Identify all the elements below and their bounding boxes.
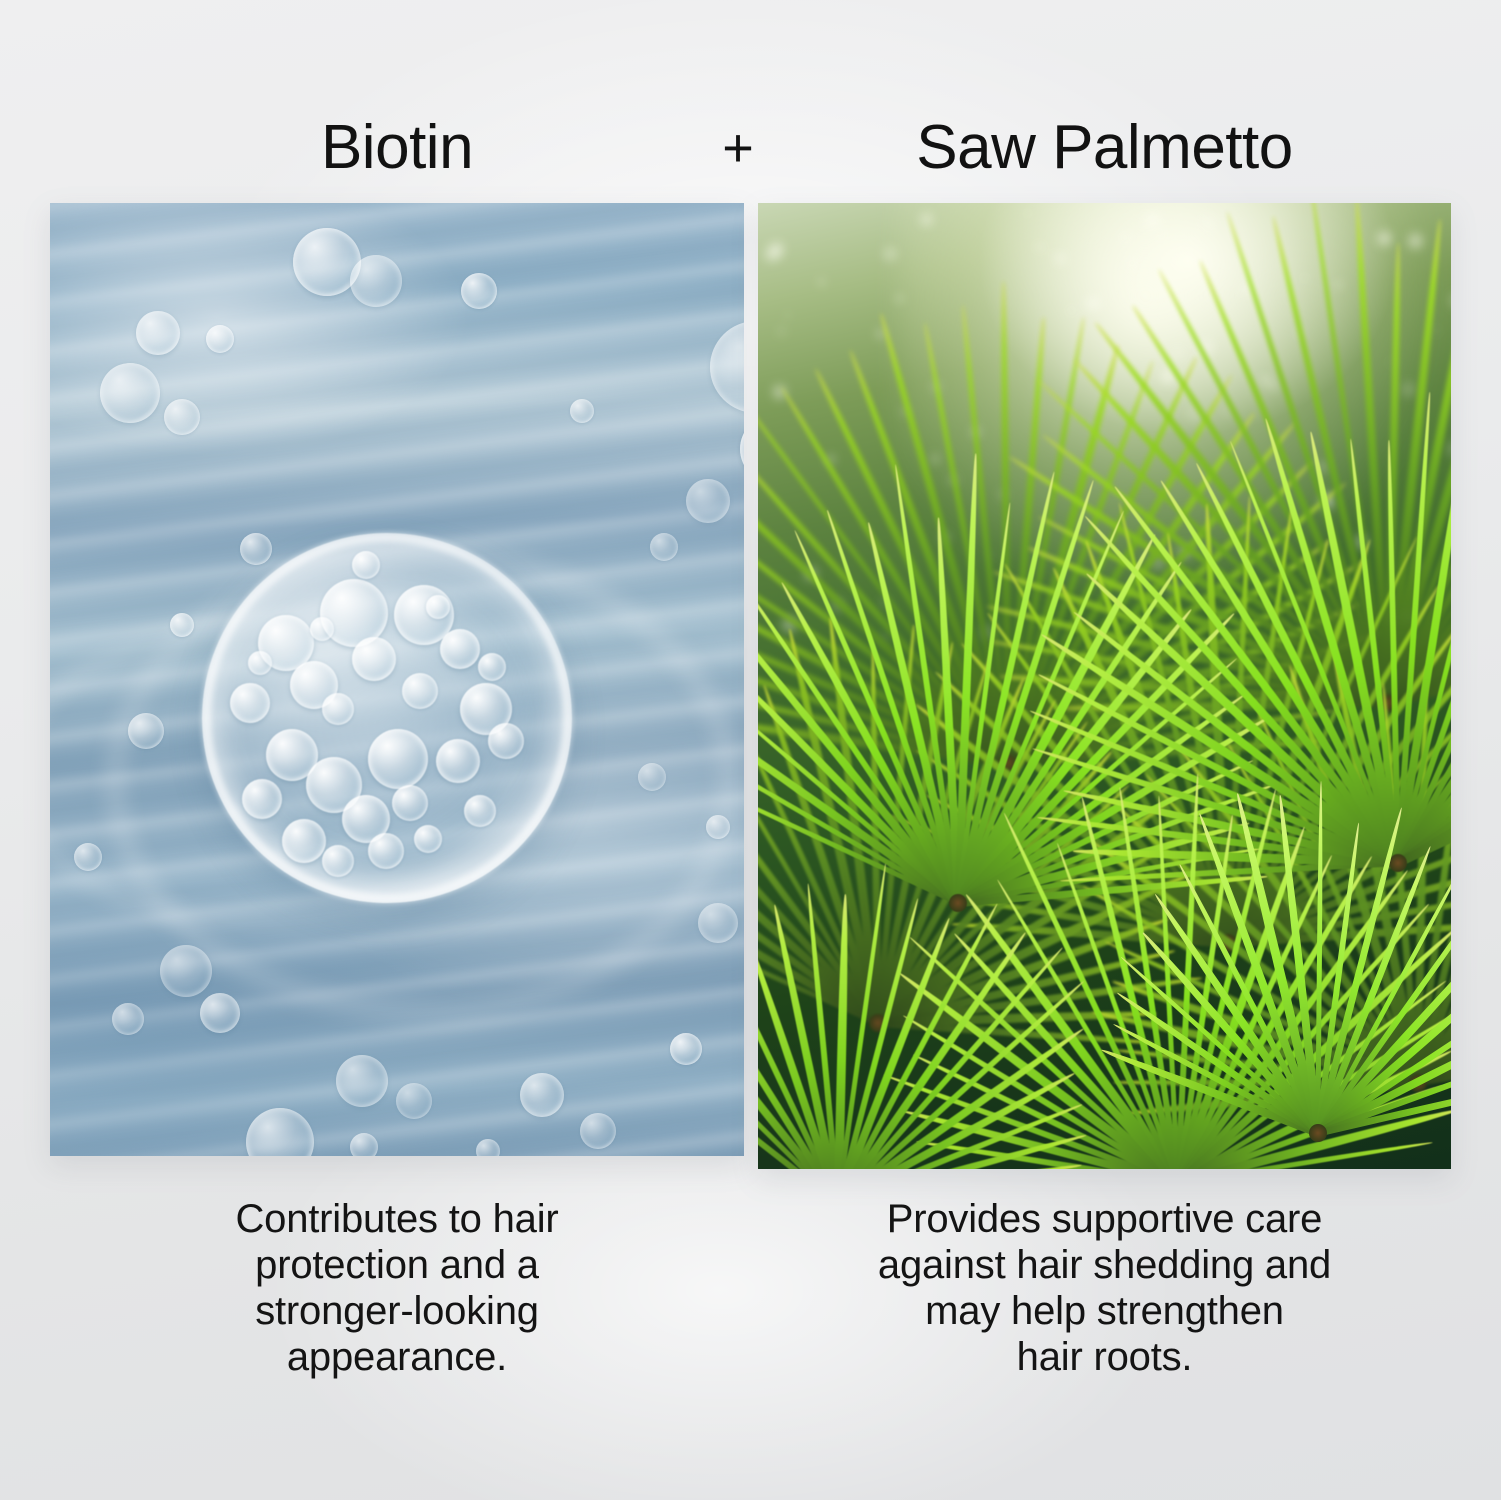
water-bubble	[100, 363, 160, 423]
bokeh-dot	[1157, 232, 1164, 239]
water-bubble	[461, 273, 497, 309]
water-bubble	[670, 1033, 702, 1065]
caption-biotin: Contributes to hair protection and a str…	[50, 1196, 744, 1380]
bokeh-dot	[1086, 297, 1100, 311]
bokeh-dot	[1055, 253, 1066, 264]
droplet-inner-bubble	[310, 617, 334, 641]
water-bubble	[686, 479, 730, 523]
droplet-inner-bubble	[368, 729, 428, 789]
droplet-inner-bubble	[352, 551, 380, 579]
bokeh-dot	[785, 313, 790, 318]
water-bubble	[336, 1055, 388, 1107]
droplet-inner-bubble	[436, 739, 480, 783]
droplet-inner-bubble	[248, 651, 272, 675]
droplet-inner-bubble	[414, 825, 442, 853]
bokeh-dot	[1069, 308, 1074, 313]
bokeh-dot	[1171, 347, 1185, 361]
ingredient-comparison-card: Biotin + Saw Palmetto Contributes to hai…	[0, 0, 1501, 1500]
bokeh-dot	[1224, 410, 1229, 415]
water-bubble	[136, 311, 180, 355]
water-bubble	[580, 1113, 616, 1149]
bokeh-dot	[1145, 213, 1160, 228]
droplet-inner-bubble	[478, 653, 506, 681]
bokeh-dot	[778, 328, 785, 335]
water-bubble	[164, 399, 200, 435]
water-bubble	[128, 713, 164, 749]
image-panel-biotin	[50, 203, 744, 1156]
water-bubble	[74, 843, 102, 871]
droplet-inner-bubble	[440, 629, 480, 669]
header: Biotin + Saw Palmetto	[0, 106, 1501, 190]
bokeh-dot	[1408, 233, 1423, 248]
bokeh-dot	[1434, 329, 1438, 333]
bokeh-dot	[1335, 281, 1342, 288]
page-title-biotin: Biotin	[50, 106, 744, 190]
bokeh-dot	[1200, 215, 1215, 230]
water-bubble	[396, 1083, 432, 1119]
water-bubble	[240, 533, 272, 565]
droplet-inner-bubble	[392, 785, 428, 821]
water-bubble	[160, 945, 212, 997]
caption-saw-palmetto: Provides supportive care against hair sh…	[758, 1196, 1451, 1380]
droplet-inner-bubble	[230, 683, 270, 723]
water-bubble	[206, 325, 234, 353]
droplet-inner-bubble	[282, 819, 326, 863]
water-bubble	[706, 815, 730, 839]
water-bubble	[638, 763, 666, 791]
bokeh-dot	[764, 248, 778, 262]
bokeh-dot	[1036, 244, 1042, 250]
bokeh-dot	[1286, 212, 1290, 216]
bokeh-dot	[1128, 259, 1136, 267]
bokeh-dot	[883, 247, 897, 261]
droplet-inner-bubble	[322, 693, 354, 725]
water-bubble	[200, 993, 240, 1033]
bokeh-dot	[876, 330, 885, 339]
bokeh-dot	[1303, 276, 1307, 280]
droplet-inner-bubble	[488, 723, 524, 759]
water-bubble	[650, 533, 678, 561]
bokeh-dot	[818, 279, 824, 285]
bokeh-dot	[896, 295, 903, 302]
frond-stem-node	[1389, 854, 1407, 872]
water-bubble	[476, 1139, 500, 1156]
droplet-inner-bubble	[464, 795, 496, 827]
bokeh-dot	[1025, 211, 1030, 216]
droplet-inner-bubble	[368, 833, 404, 869]
water-bubble	[112, 1003, 144, 1035]
bokeh-dot	[920, 213, 932, 225]
image-panel-saw-palmetto	[758, 203, 1451, 1169]
droplet-inner-bubble	[322, 845, 354, 877]
water-bubble	[350, 1133, 378, 1156]
bokeh-dot	[1447, 442, 1451, 456]
bokeh-dot	[1377, 231, 1392, 246]
droplet-inner-bubble	[352, 637, 396, 681]
bokeh-dot	[1450, 293, 1451, 307]
water-bubble	[698, 903, 738, 943]
bokeh-dot	[1209, 227, 1213, 231]
frond-stem-node	[1309, 1124, 1327, 1142]
bokeh-dot	[1401, 382, 1416, 397]
droplet-inner-bubble	[402, 673, 438, 709]
droplet-inner-bubble	[426, 595, 450, 619]
bokeh-dot	[930, 454, 940, 464]
droplet-inner-bubble	[242, 779, 282, 819]
frond-stem-node	[949, 894, 967, 912]
water-bubble	[520, 1073, 564, 1117]
water-droplet	[202, 533, 572, 903]
bokeh-dot	[1121, 234, 1128, 241]
water-bubble	[170, 613, 194, 637]
water-bubble	[350, 255, 402, 307]
water-bubble	[570, 399, 594, 423]
page-title-saw-palmetto: Saw Palmetto	[758, 106, 1451, 190]
bokeh-dot	[1268, 381, 1278, 391]
